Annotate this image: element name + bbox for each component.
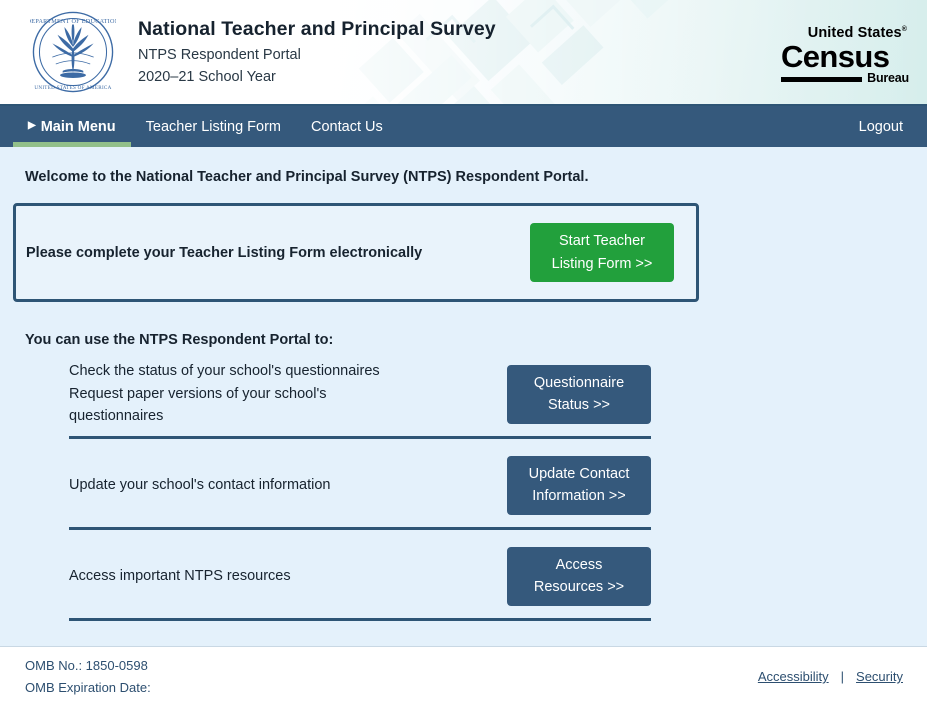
logout-button[interactable]: Logout: [859, 119, 903, 135]
dept-of-education-seal-icon: DEPARTMENT OF EDUCATION UNITED STATES OF…: [30, 9, 116, 95]
questionnaire-status-button[interactable]: Questionnaire Status >>: [507, 365, 651, 424]
footer-links: Accessibility | Security: [758, 669, 903, 684]
nav-item-main-menu[interactable]: ▶ Main Menu: [13, 106, 131, 147]
questionnaire-status-button-line1: Questionnaire: [534, 375, 624, 391]
start-tlf-button-line1: Start Teacher: [559, 233, 645, 249]
start-tlf-button-line2: Listing Form >>: [552, 256, 653, 272]
svg-text:DEPARTMENT OF EDUCATION: DEPARTMENT OF EDUCATION: [30, 18, 116, 25]
census-bureau-logo: United States® Census Bureau: [781, 26, 909, 85]
site-header: DEPARTMENT OF EDUCATION UNITED STATES OF…: [0, 0, 927, 106]
update-contact-button-line1: Update Contact: [529, 466, 630, 482]
footer-link-separator: |: [841, 669, 844, 684]
census-logo-bureau: Bureau: [867, 72, 909, 85]
teacher-listing-form-callout: Please complete your Teacher Listing For…: [13, 203, 699, 302]
list-item-access-resources: Access important NTPS resources Access R…: [69, 530, 651, 618]
update-contact-information-button[interactable]: Update Contact Information >>: [507, 456, 651, 515]
list-item-questionnaire-status: Check the status of your school's questi…: [69, 348, 651, 436]
update-contact-line1: Update your school's contact information: [69, 474, 493, 497]
access-resources-button-line2: Resources >>: [534, 579, 624, 595]
access-resources-button-line1: Access: [556, 557, 603, 573]
svg-text:UNITED STATES OF AMERICA: UNITED STATES OF AMERICA: [34, 85, 111, 91]
nav-item-contact-us-label: Contact Us: [311, 119, 383, 135]
callout-text: Please complete your Teacher Listing For…: [26, 245, 530, 261]
census-logo-rule: [781, 77, 862, 82]
nav-item-teacher-listing-form-label: Teacher Listing Form: [146, 119, 281, 135]
uses-heading: You can use the NTPS Respondent Portal t…: [0, 302, 927, 348]
nav-item-main-menu-label: Main Menu: [41, 119, 116, 135]
omb-info: OMB No.: 1850-0598 OMB Expiration Date:: [25, 655, 151, 697]
update-contact-button-line2: Information >>: [532, 488, 626, 504]
nav-items: ▶ Main Menu Teacher Listing Form Contact…: [0, 106, 398, 147]
list-divider: [69, 618, 651, 621]
questionnaire-status-line2: Request paper versions of your school's: [69, 383, 493, 406]
access-resources-button[interactable]: Access Resources >>: [507, 547, 651, 606]
update-contact-description: Update your school's contact information: [69, 474, 507, 497]
access-resources-description: Access important NTPS resources: [69, 565, 507, 588]
nav-item-contact-us[interactable]: Contact Us: [296, 106, 398, 147]
nav-right-group: Logout: [859, 106, 927, 147]
registered-mark-icon: ®: [902, 26, 907, 33]
questionnaire-status-description: Check the status of your school's questi…: [69, 360, 507, 428]
main-content: Welcome to the National Teacher and Prin…: [0, 147, 927, 706]
start-teacher-listing-form-button[interactable]: Start Teacher Listing Form >>: [530, 223, 674, 282]
site-title-block: National Teacher and Principal Survey NT…: [138, 17, 496, 87]
page-title: National Teacher and Principal Survey: [138, 17, 496, 42]
census-wordmark: Census: [781, 42, 909, 72]
nav-item-teacher-listing-form[interactable]: Teacher Listing Form: [131, 106, 296, 147]
portal-subtitle: NTPS Respondent Portal: [138, 46, 496, 65]
welcome-message: Welcome to the National Teacher and Prin…: [0, 147, 927, 185]
main-navigation: ▶ Main Menu Teacher Listing Form Contact…: [0, 106, 927, 147]
questionnaire-status-line1: Check the status of your school's questi…: [69, 360, 493, 383]
access-resources-line1: Access important NTPS resources: [69, 565, 493, 588]
omb-expiration-date: OMB Expiration Date:: [25, 677, 151, 698]
site-footer: OMB No.: 1850-0598 OMB Expiration Date: …: [0, 646, 927, 706]
school-year: 2020–21 School Year: [138, 68, 496, 87]
security-link[interactable]: Security: [856, 669, 903, 684]
omb-number: OMB No.: 1850-0598: [25, 655, 151, 676]
caret-right-icon: ▶: [28, 121, 36, 131]
list-item-update-contact-information: Update your school's contact information…: [69, 439, 651, 527]
questionnaire-status-button-line2: Status >>: [548, 397, 610, 413]
portal-action-list: Check the status of your school's questi…: [69, 348, 651, 621]
accessibility-link[interactable]: Accessibility: [758, 669, 829, 684]
questionnaire-status-line3: questionnaires: [69, 405, 493, 428]
